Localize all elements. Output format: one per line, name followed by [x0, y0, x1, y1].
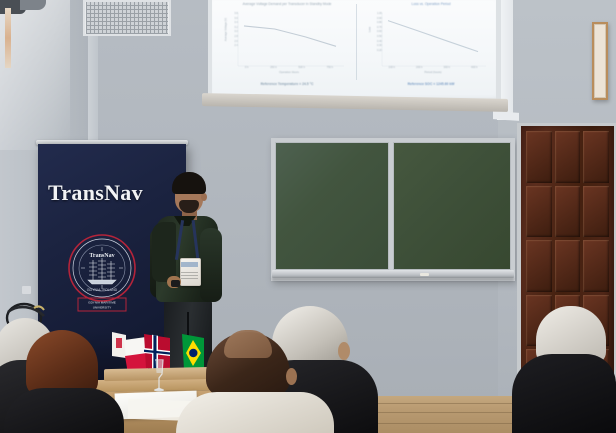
- slide-chart-left: Average Voltage Demand per Transducer in…: [222, 0, 350, 92]
- chalk-piece: [420, 273, 429, 276]
- presenter-hair: [172, 172, 206, 194]
- window-sill: [493, 111, 519, 121]
- presenter-ear: [201, 193, 207, 201]
- ceiling-shadow-2: [20, 0, 46, 10]
- door-panel: [555, 131, 581, 183]
- xtick: 200 h: [416, 66, 423, 69]
- presenter-shoulder: [152, 222, 176, 282]
- chart-right-xticks: 100 h 200 h 300 h 400 h: [378, 66, 488, 69]
- xtick: 0 h: [245, 66, 249, 69]
- xtick: 500 h: [298, 66, 305, 69]
- xtick: 750 h: [327, 66, 334, 69]
- audience-balding-ear: [286, 368, 297, 385]
- emblem-location-text: GDYNIA, POLAND: [87, 288, 118, 292]
- screen-edge-left: [208, 0, 212, 100]
- xtick: 300 h: [444, 66, 451, 69]
- audience-auburn-hair: [26, 330, 98, 396]
- badge-header-strip: [181, 262, 198, 267]
- chart-left-xticks: 0 h 250 h 500 h 750 h: [234, 66, 344, 69]
- framed-picture: [592, 22, 608, 100]
- slide-chart-right: Loss vs. Operation Period Loss 1.00 0.90…: [366, 0, 492, 92]
- chalk-tray-shadow: [272, 277, 514, 281]
- xtick: 100 h: [389, 66, 396, 69]
- emblem-plaque-line1: GDYNIA MARITIME: [88, 301, 116, 305]
- audience-auburn-hair-body: [4, 388, 124, 433]
- drinking-glass: [152, 358, 166, 392]
- transnav-emblem: TransNav GDYNIA, POLAND GDYNIA MARITIME …: [62, 230, 142, 314]
- audience-white-hair-right-body: [512, 354, 616, 433]
- picture-artwork: [5, 8, 11, 68]
- chart-left-plot: [222, 0, 350, 92]
- door-panel: [555, 186, 581, 238]
- emblem-plaque-line2: UNIVERSITY: [93, 306, 112, 310]
- xtick: 400 h: [471, 66, 478, 69]
- chart-right-xlabel: Period (hours): [378, 71, 488, 74]
- presentation-remote[interactable]: [171, 280, 180, 287]
- projection-screen-surface: Average Voltage Demand per Transducer in…: [208, 0, 500, 100]
- screen-edge-right: [496, 0, 501, 100]
- door-panel: [583, 240, 609, 292]
- door-panel: [583, 186, 609, 238]
- door-panel: [583, 131, 609, 183]
- presenter-arm-right: [200, 228, 222, 302]
- picture-mat: [594, 24, 606, 98]
- door-panel: [526, 131, 552, 183]
- chalkboard-panel-left: [275, 142, 389, 270]
- chart-left-xlabel: Operation Hours: [234, 71, 344, 74]
- audience-balding-body: [176, 392, 334, 433]
- ventilation-grille-mesh: [86, 2, 168, 34]
- audience-white-hair-center-ear: [338, 342, 350, 360]
- chart-right-caption: Reference SOC = 1245.60 kW: [366, 82, 496, 86]
- lecture-hall-photo: Average Voltage Demand per Transducer in…: [0, 0, 616, 433]
- chart-right-plot: [366, 0, 492, 92]
- slide-divider: [356, 4, 357, 80]
- chart-left-caption: Reference Temperature = 24.5 °C: [222, 82, 352, 86]
- projection-screen: Average Voltage Demand per Transducer in…: [208, 0, 500, 112]
- chalkboard-panel-right: [393, 142, 511, 270]
- badge-text-lines: [181, 270, 198, 279]
- door-panel: [555, 240, 581, 292]
- chalkboard: [271, 138, 515, 281]
- wall-outlet[interactable]: [22, 286, 31, 294]
- xtick: 250 h: [270, 66, 277, 69]
- door-panel: [526, 240, 552, 292]
- flag-white-red-emblem: [112, 332, 126, 358]
- door-panel: [526, 186, 552, 238]
